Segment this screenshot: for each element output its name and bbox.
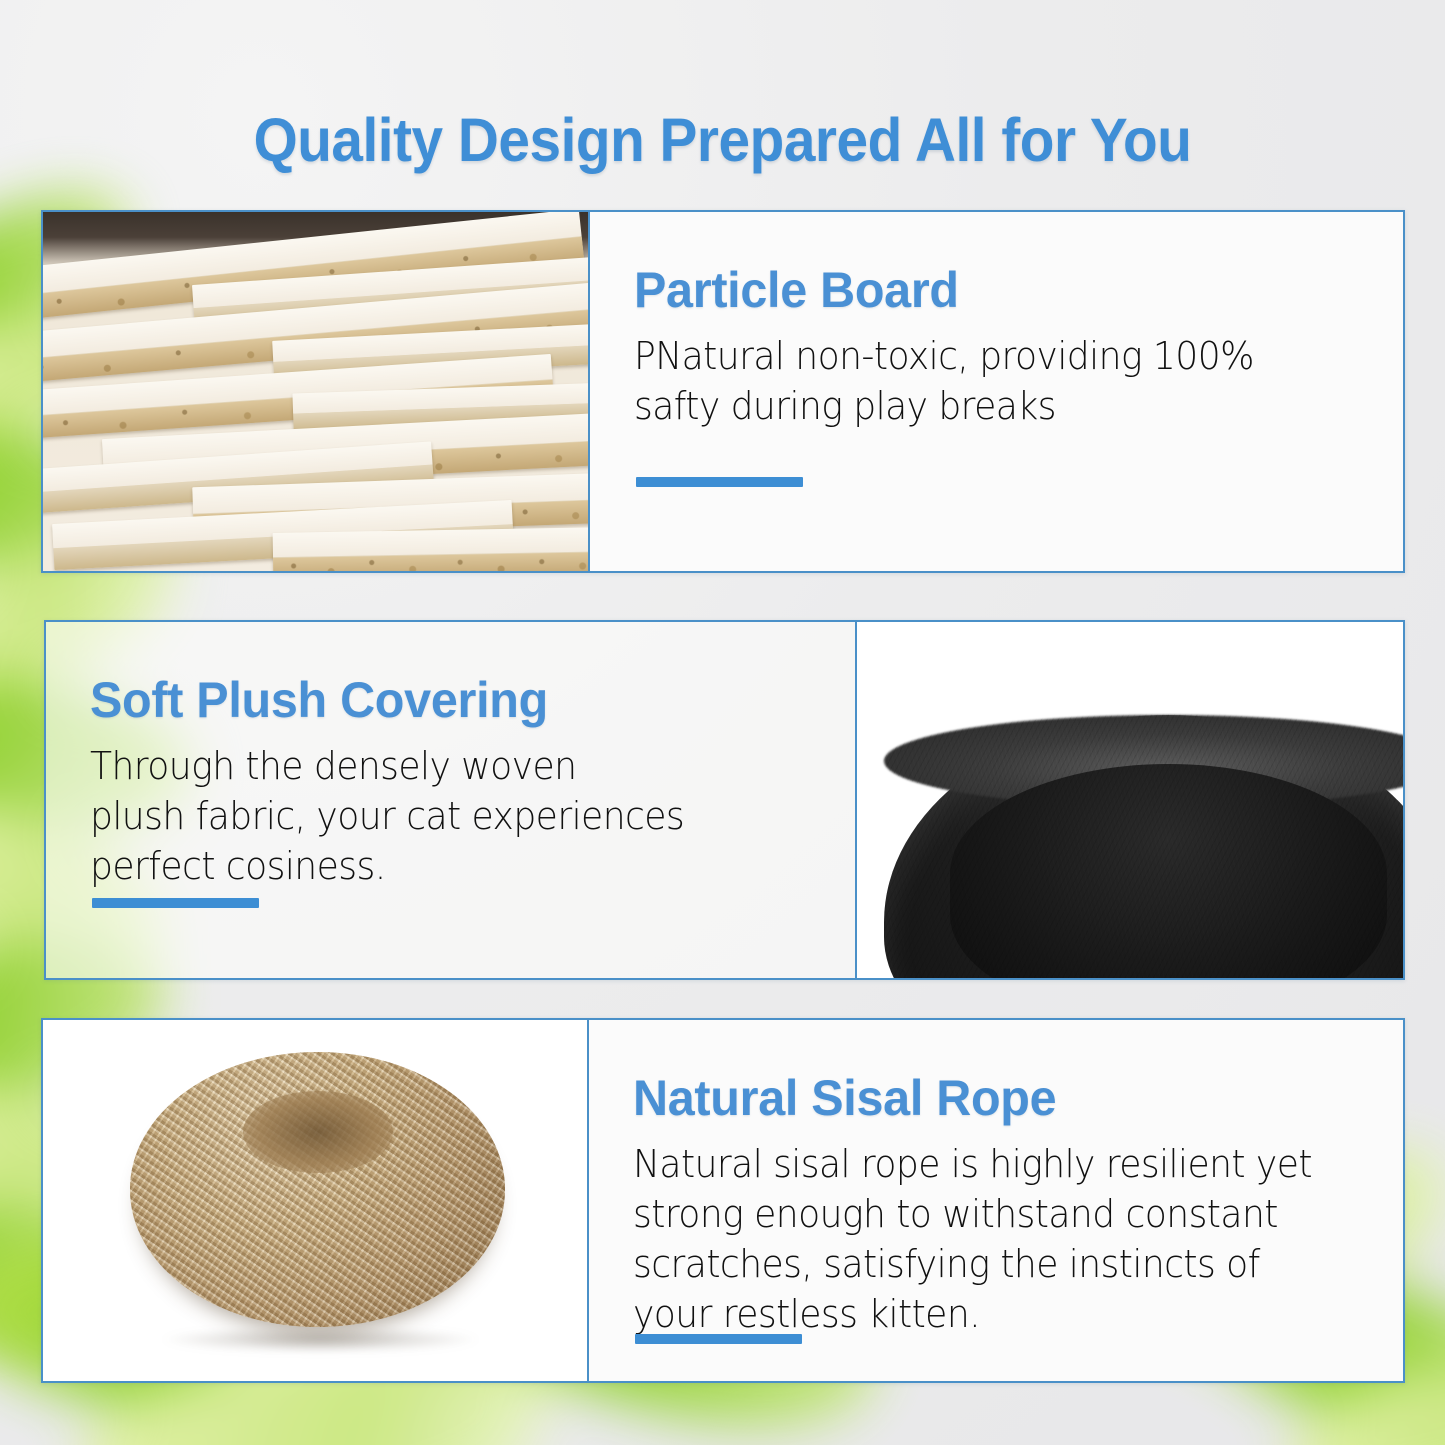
panel-body-particle-board: PNatural non-toxic, providing 100% safty… <box>634 331 1321 431</box>
infographic-page: Quality Design Prepared All for You Part… <box>0 0 1445 1445</box>
feature-panel-plush: Soft Plush Covering Through the densely … <box>44 620 1405 980</box>
plush-bed-photo <box>857 622 1403 978</box>
feature-panel-particle-board: Particle Board PNatural non-toxic, provi… <box>41 210 1405 573</box>
panel-heading-plush: Soft Plush Covering <box>90 674 787 727</box>
sisal-rope-photo <box>43 1020 587 1381</box>
accent-bar <box>92 898 259 908</box>
particle-board-copy: Particle Board PNatural non-toxic, provi… <box>590 212 1403 571</box>
panel-body-sisal: Natural sisal rope is highly resilient y… <box>633 1139 1321 1339</box>
panel-heading-particle-board: Particle Board <box>634 264 1335 317</box>
particle-board-photo <box>43 212 588 571</box>
accent-bar <box>636 477 803 487</box>
feature-panel-sisal: Natural Sisal Rope Natural sisal rope is… <box>41 1018 1405 1383</box>
panel-heading-sisal: Natural Sisal Rope <box>633 1072 1335 1125</box>
particle-board-image <box>43 212 588 571</box>
accent-bar <box>635 1334 802 1344</box>
sisal-image <box>43 1020 587 1381</box>
plush-copy: Soft Plush Covering Through the densely … <box>46 622 855 978</box>
sisal-copy: Natural Sisal Rope Natural sisal rope is… <box>589 1020 1403 1381</box>
plush-image <box>857 622 1403 978</box>
page-title: Quality Design Prepared All for You <box>51 105 1395 175</box>
panel-body-plush: Through the densely woven plush fabric, … <box>90 741 773 891</box>
